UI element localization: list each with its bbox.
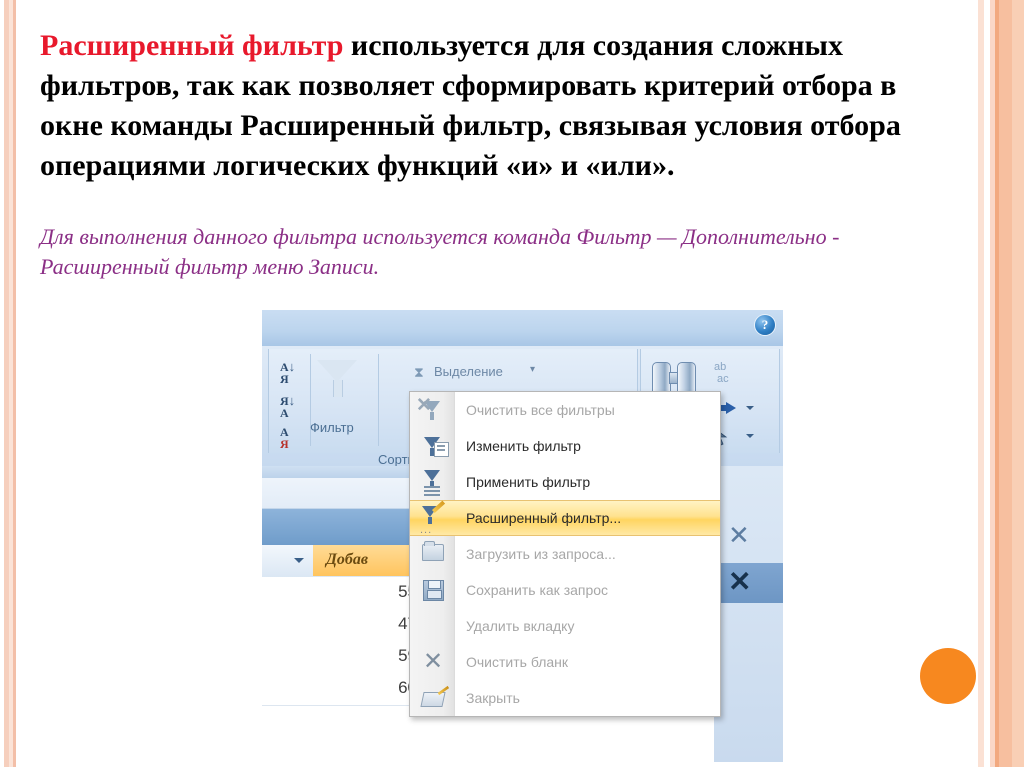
selection-caret-icon[interactable]: ▾	[530, 364, 535, 375]
close-icon	[410, 680, 454, 716]
help-icon[interactable]: ?	[755, 315, 775, 335]
menu-item-apply-filter[interactable]: Применить фильтр	[410, 464, 720, 500]
access-titlebar: ?	[262, 310, 783, 347]
replace-icon-label[interactable]: ab ac	[714, 362, 729, 385]
menu-item-label: Применить фильтр	[454, 474, 590, 490]
menu-item-label: Сохранить как запрос	[454, 582, 608, 598]
menu-item-label: Очистить все фильтры	[454, 402, 615, 418]
menu-item-label: Расширенный фильтр...	[454, 510, 621, 526]
menu-item-label: Загрузить из запроса...	[454, 546, 616, 562]
load-from-query-icon	[410, 536, 454, 572]
filter-button-label[interactable]: Фильтр	[310, 420, 354, 435]
menu-item-load-from-query[interactable]: Загрузить из запроса...	[410, 536, 720, 572]
paragraph-main: Расширенный фильтр используется для созд…	[40, 26, 940, 186]
advanced-dropdown-menu[interactable]: ✕ Очистить все фильтры Изменить фильтр П…	[409, 391, 721, 717]
paragraph-main-accent: Расширенный фильтр	[40, 29, 343, 62]
menu-item-clear-all-filters[interactable]: ✕ Очистить все фильтры	[410, 392, 720, 428]
slide-right-stripes	[976, 0, 1024, 767]
apply-filter-icon	[410, 464, 454, 500]
menu-item-advanced-filter[interactable]: ... Расширенный фильтр...	[410, 500, 720, 536]
menu-item-clear-grid[interactable]: ✕ Очистить бланк	[410, 644, 720, 680]
filter-funnel-stem-icon	[333, 380, 343, 397]
column-filter-caret-icon[interactable]	[294, 558, 304, 563]
sort-descending-icon[interactable]: Я↓А	[280, 394, 295, 419]
datasheet-side-panel	[714, 466, 783, 762]
column-header-label: Добав	[326, 551, 368, 569]
delete-tab-icon	[410, 608, 454, 644]
menu-item-delete-tab[interactable]: Удалить вкладку	[410, 608, 720, 644]
menu-item-edit-filter[interactable]: Изменить фильтр	[410, 428, 720, 464]
clear-sort-icon[interactable]: АЯ	[280, 426, 289, 450]
clear-grid-icon: ✕	[410, 644, 454, 680]
go-to-caret-icon[interactable]	[746, 406, 754, 410]
paragraph-sub: Для выполнения данного фильтра используе…	[40, 222, 940, 281]
selection-button-icon[interactable]: ⧗	[414, 364, 424, 381]
select-caret-icon[interactable]	[746, 434, 754, 438]
embedded-access-screenshot: ? А↓Я Я↓А АЯ Фильтр ⧗ Выделение ▾ Дополн…	[262, 310, 783, 762]
edit-filter-icon	[410, 428, 454, 464]
menu-item-save-as-query[interactable]: Сохранить как запрос	[410, 572, 720, 608]
menu-item-label: Изменить фильтр	[454, 438, 581, 454]
menu-item-label: Закрыть	[454, 690, 520, 706]
save-as-query-icon	[410, 572, 454, 608]
menu-item-label: Удалить вкладку	[454, 618, 574, 634]
sort-ascending-icon[interactable]: А↓Я	[280, 360, 295, 385]
advanced-filter-icon: ...	[410, 500, 454, 536]
close-document-icon[interactable]: ✕	[728, 520, 750, 551]
menu-item-label: Очистить бланк	[454, 654, 568, 670]
filter-funnel-icon[interactable]	[317, 360, 357, 382]
slide-left-stripes	[0, 0, 24, 767]
decorative-orange-circle	[920, 648, 976, 704]
menu-item-close[interactable]: Закрыть	[410, 680, 720, 716]
clear-all-filters-icon: ✕	[410, 392, 454, 428]
close-tab-icon[interactable]: ✕	[728, 565, 751, 598]
selection-button-label[interactable]: Выделение	[434, 364, 503, 379]
